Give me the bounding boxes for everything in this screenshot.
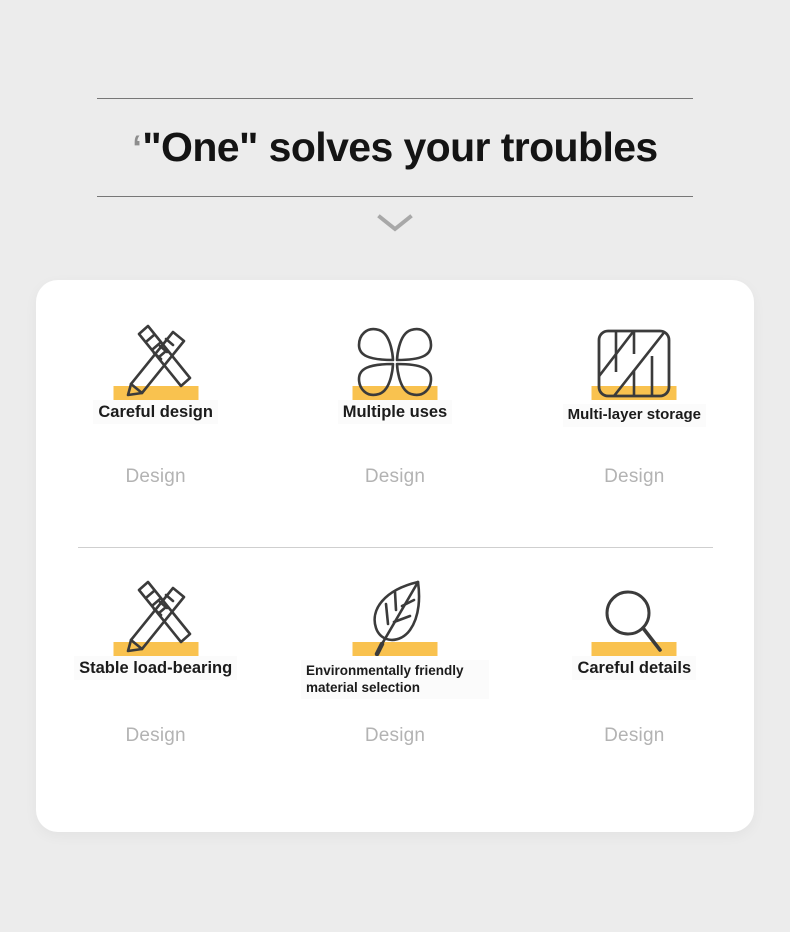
- page-title-text: "One" solves your troubles: [142, 127, 657, 168]
- features-row-2: Stable load-bearing Design: [36, 536, 754, 792]
- feature-subtext: Design: [604, 725, 664, 747]
- feature-label-slot: Careful design: [36, 400, 275, 446]
- feature-highlights-page: ‘"One" solves your troubles: [0, 0, 790, 932]
- leading-quote-mark: ‘: [132, 131, 141, 165]
- feature-subtext: Design: [604, 466, 664, 488]
- four-petal-clover-icon: [351, 324, 439, 400]
- feature-icon-block: [340, 310, 450, 400]
- features-card: Careful design Design: [36, 280, 754, 832]
- feature-subtext: Design: [365, 725, 425, 747]
- magnifier-icon: [598, 584, 670, 656]
- feature-subtext-slot: Design: [36, 466, 275, 488]
- feature-subtext-slot: Design: [515, 466, 754, 488]
- feature-icon-block: [579, 566, 689, 656]
- feature-icon-block: [101, 566, 211, 656]
- feature-label: Careful details: [572, 656, 696, 680]
- page-title-wrap: ‘"One" solves your troubles: [97, 99, 693, 196]
- feature-multiple-uses[interactable]: Multiple uses Design: [275, 280, 514, 536]
- leaf-icon: [358, 576, 432, 656]
- feature-subtext-slot: Design: [275, 466, 514, 488]
- feature-subtext: Design: [365, 466, 425, 488]
- feature-subtext: Design: [125, 466, 185, 488]
- feature-subtext: Design: [125, 725, 185, 747]
- feature-label: Careful design: [93, 400, 218, 424]
- feature-multi-layer-storage[interactable]: Multi-layer storage Design: [515, 280, 754, 536]
- feature-label-slot: Multi-layer storage: [515, 400, 754, 446]
- feature-subtext-slot: Design: [515, 725, 754, 747]
- chevron-down-icon: [376, 212, 414, 234]
- feature-eco-material[interactable]: Environmentally friendly material select…: [275, 536, 514, 792]
- feature-label-slot: Careful details: [515, 656, 754, 698]
- page-title: ‘"One" solves your troubles: [132, 127, 657, 168]
- feature-label: Environmentally friendly material select…: [301, 660, 489, 699]
- feature-careful-details[interactable]: Careful details Design: [515, 536, 754, 792]
- feature-stable-load-bearing[interactable]: Stable load-bearing Design: [36, 536, 275, 792]
- feature-subtext-slot: Design: [275, 725, 514, 747]
- ruler-pencil-icon: [111, 578, 201, 656]
- features-row-1: Careful design Design: [36, 280, 754, 536]
- feature-label-slot: Environmentally friendly material select…: [275, 656, 514, 698]
- feature-careful-design[interactable]: Careful design Design: [36, 280, 275, 536]
- ruler-pencil-icon: [111, 322, 201, 400]
- scroll-down-indicator[interactable]: [0, 212, 790, 234]
- feature-label-slot: Multiple uses: [275, 400, 514, 446]
- feature-label-slot: Stable load-bearing: [36, 656, 275, 698]
- page-header: ‘"One" solves your troubles: [97, 98, 693, 197]
- layered-storage-icon: [592, 326, 676, 400]
- feature-subtext-slot: Design: [36, 725, 275, 747]
- feature-label: Multiple uses: [338, 400, 453, 424]
- feature-label: Stable load-bearing: [74, 656, 237, 680]
- feature-icon-block: [340, 566, 450, 656]
- feature-icon-block: [579, 310, 689, 400]
- feature-label: Multi-layer storage: [563, 404, 706, 427]
- feature-icon-block: [101, 310, 211, 400]
- header-bottom-rule: [97, 196, 693, 197]
